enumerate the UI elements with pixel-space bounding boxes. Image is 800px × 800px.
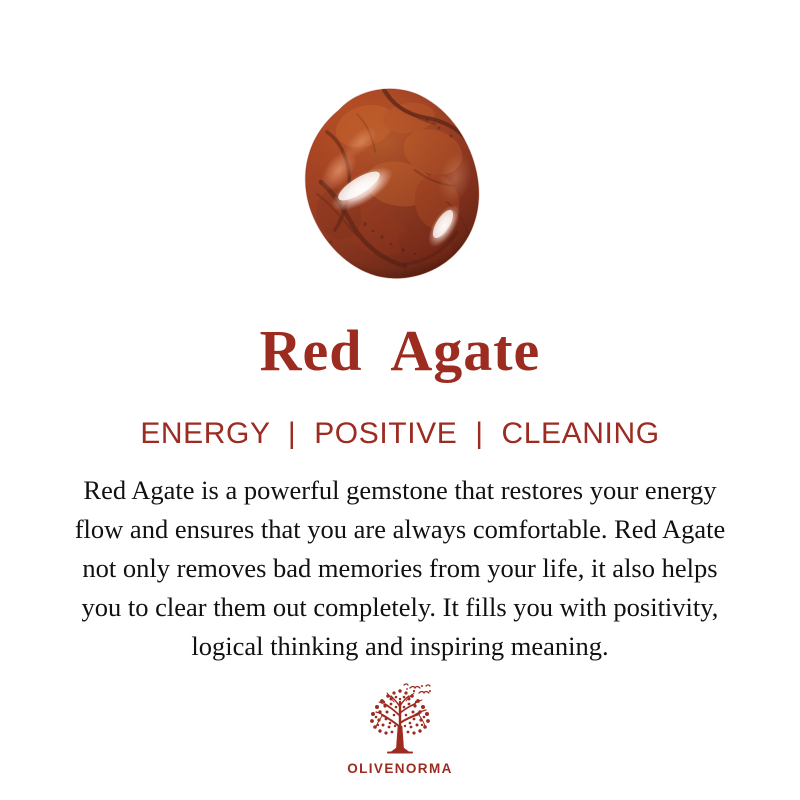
description-line: not only removes bad memories from your … [15, 549, 785, 588]
gemstone-image [287, 74, 503, 290]
description-line: Red Agate is a powerful gemstone that re… [15, 471, 785, 510]
tree-of-life-icon [358, 682, 442, 758]
page-title: Red Agate [260, 322, 541, 380]
product-info-card: Red Agate ENERGY | POSITIVE | CLEANING R… [0, 0, 800, 800]
gemstone-image-area [0, 0, 800, 322]
brand-logo: OLIVENORMA [347, 666, 453, 776]
brand-name: OLIVENORMA [347, 758, 453, 776]
gemstone-body [287, 74, 503, 290]
keyword-subtitle: ENERGY | POSITIVE | CLEANING [140, 380, 659, 449]
description-line: flow and ensures that you are always com… [15, 510, 785, 549]
description-line: logical thinking and inspiring meaning. [15, 627, 785, 666]
product-description: Red Agate is a powerful gemstone that re… [15, 449, 785, 666]
red-agate-tumbled-stone-icon [287, 74, 503, 290]
description-line: you to clear them out completely. It fil… [15, 588, 785, 627]
